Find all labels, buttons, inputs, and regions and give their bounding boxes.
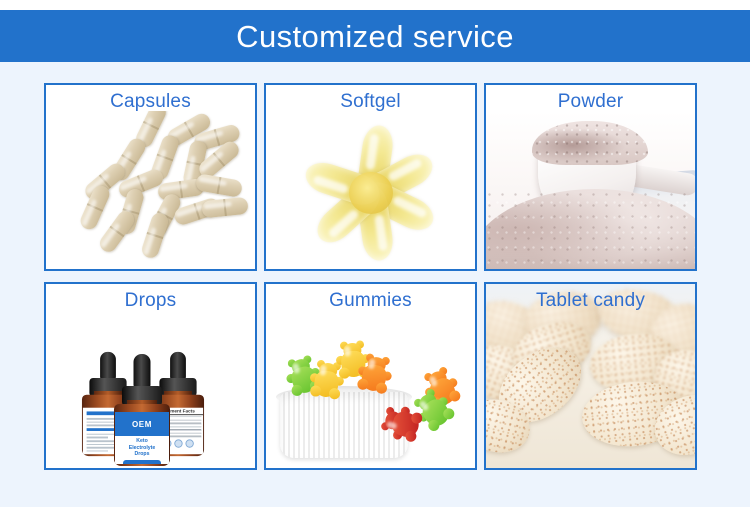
capsules-photo xyxy=(46,111,255,269)
card-gummies[interactable]: Gummies xyxy=(264,282,477,470)
card-label-gummies: Gummies xyxy=(266,291,475,312)
powder-photo xyxy=(486,111,695,269)
card-softgel[interactable]: Softgel xyxy=(264,83,477,271)
bottle-product-line-3: Drops xyxy=(117,451,167,458)
card-tablet-candy[interactable]: Tablet candy xyxy=(484,282,697,470)
page-header-banner: Customized service xyxy=(0,10,750,62)
card-label-powder: Powder xyxy=(486,92,695,113)
card-drops[interactable]: Supplement Facts xyxy=(44,282,257,470)
page-title: Customized service xyxy=(236,21,514,52)
card-label-capsules: Capsules xyxy=(46,92,255,113)
seal-icon xyxy=(185,439,193,447)
content-area: Capsules Softgel xyxy=(0,62,750,507)
gummies-photo xyxy=(266,312,475,468)
bottle-brand-label: OEM xyxy=(115,412,169,436)
softgel-photo xyxy=(266,109,475,271)
seal-icon xyxy=(174,439,182,447)
softgel-cluster xyxy=(296,118,446,268)
card-label-drops: Drops xyxy=(46,291,255,312)
drops-photo: Supplement Facts xyxy=(46,312,255,468)
dropper-bottle-center: OEM Keto Electrolyte Drops xyxy=(114,354,170,466)
tablet-candy-photo xyxy=(486,284,695,468)
product-form-grid: Capsules Softgel xyxy=(44,83,697,470)
card-powder[interactable]: Powder xyxy=(484,83,697,271)
page-root: Customized service xyxy=(0,0,750,507)
card-capsules[interactable]: Capsules xyxy=(44,83,257,271)
